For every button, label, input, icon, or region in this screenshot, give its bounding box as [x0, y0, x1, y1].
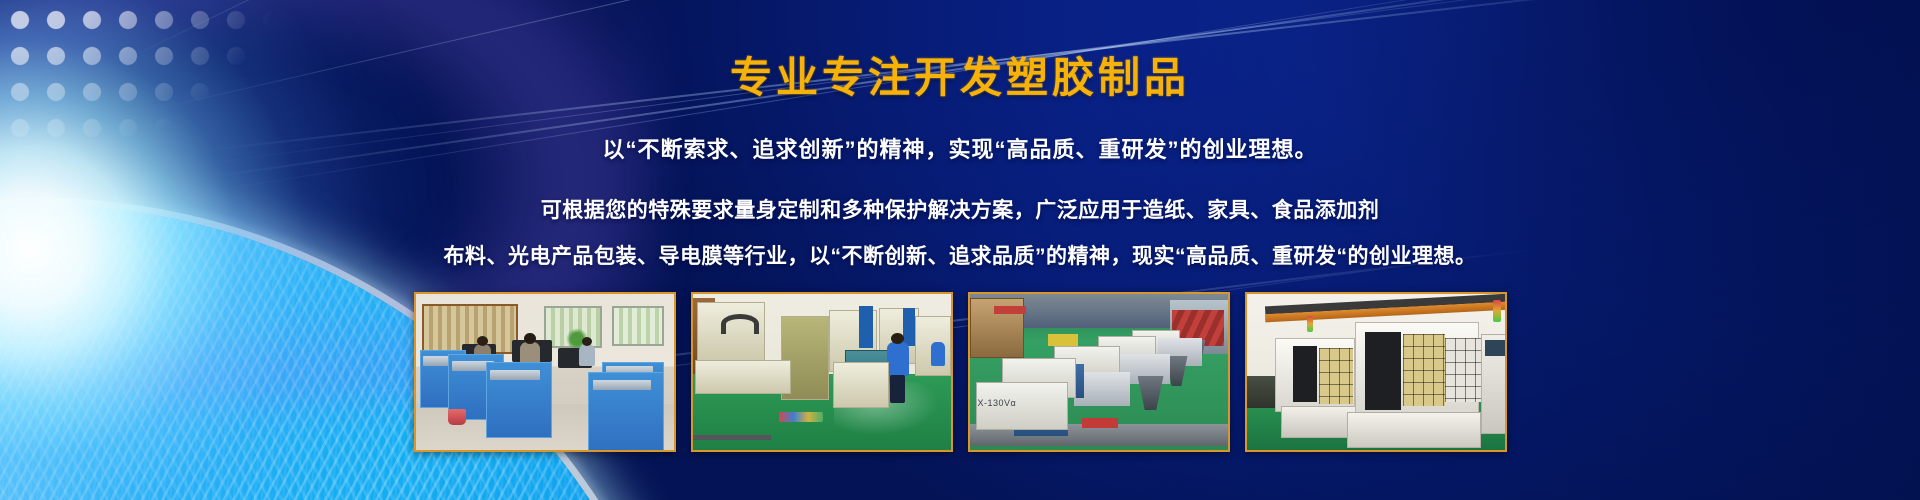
description-line-1: 可根据您的特殊要求量身定制和多种保护解决方案，广泛应用于造纸、家具、食品添加剂: [541, 194, 1380, 224]
photo-4-scene: [1247, 294, 1505, 450]
machine-model-label: X-130Vα: [978, 398, 1017, 408]
banner-content: 专业专注开发塑胶制品 以“不断索求、追求创新”的精神，实现“高品质、重研发”的创…: [0, 0, 1920, 500]
banner-subtitle: 以“不断索求、追求创新”的精神，实现“高品质、重研发”的创业理想。: [602, 132, 1317, 164]
banner-description: 可根据您的特殊要求量身定制和多种保护解决方案，广泛应用于造纸、家具、食品添加剂 …: [444, 194, 1477, 270]
promo-banner: 专业专注开发塑胶制品 以“不断索求、追求创新”的精神，实现“高品质、重研发”的创…: [0, 0, 1920, 500]
photo-injection-molding[interactable]: X-130Vα: [968, 292, 1230, 452]
photo-office-workstations[interactable]: [414, 292, 676, 452]
photo-strip: X-130Vα: [414, 292, 1507, 452]
photo-cnc-machining[interactable]: [1245, 292, 1507, 452]
photo-1-scene: [416, 294, 674, 450]
description-line-2: 布料、光电产品包装、导电膜等行业，以“不断创新、追求品质”的精神，现实“高品质、…: [444, 240, 1477, 270]
photo-2-scene: [693, 294, 951, 450]
photo-3-scene: X-130Vα: [970, 294, 1228, 450]
banner-title: 专业专注开发塑胶制品: [730, 44, 1190, 105]
photo-edm-workshop[interactable]: [691, 292, 953, 452]
